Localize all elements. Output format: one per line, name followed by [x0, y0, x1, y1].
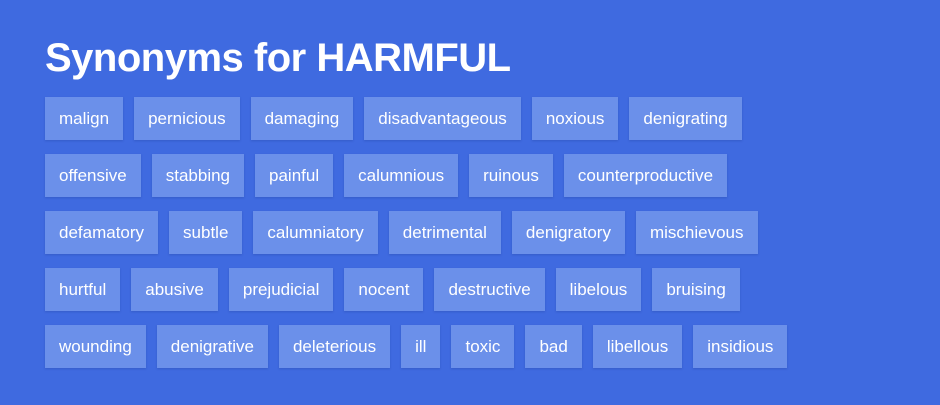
synonym-tag[interactable]: detrimental	[389, 211, 501, 254]
synonym-tag[interactable]: libelous	[556, 268, 642, 311]
synonym-tag[interactable]: destructive	[434, 268, 544, 311]
synonym-tag[interactable]: mischievous	[636, 211, 758, 254]
synonym-row: offensivestabbingpainfulcalumniousruinou…	[45, 154, 905, 197]
synonym-tag[interactable]: defamatory	[45, 211, 158, 254]
synonym-tag-list: malignperniciousdamagingdisadvantageousn…	[45, 97, 905, 368]
synonym-row: woundingdenigrativedeleteriousilltoxicba…	[45, 325, 905, 368]
synonym-tag[interactable]: painful	[255, 154, 333, 197]
synonym-tag[interactable]: toxic	[451, 325, 514, 368]
synonym-row: hurtfulabusiveprejudicialnocentdestructi…	[45, 268, 905, 311]
synonym-tag[interactable]: denigrative	[157, 325, 268, 368]
synonym-tag[interactable]: disadvantageous	[364, 97, 521, 140]
synonym-tag[interactable]: damaging	[251, 97, 354, 140]
synonym-tag[interactable]: noxious	[532, 97, 619, 140]
synonym-tag[interactable]: prejudicial	[229, 268, 334, 311]
synonym-tag[interactable]: insidious	[693, 325, 787, 368]
synonym-tag[interactable]: deleterious	[279, 325, 390, 368]
synonym-tag[interactable]: stabbing	[152, 154, 244, 197]
synonym-tag[interactable]: denigratory	[512, 211, 625, 254]
synonym-tag[interactable]: abusive	[131, 268, 218, 311]
synonym-tag[interactable]: wounding	[45, 325, 146, 368]
synonym-tag[interactable]: hurtful	[45, 268, 120, 311]
synonym-tag[interactable]: ruinous	[469, 154, 553, 197]
page-title: Synonyms for HARMFUL	[45, 33, 511, 83]
synonym-tag[interactable]: malign	[45, 97, 123, 140]
synonym-tag[interactable]: calumnious	[344, 154, 458, 197]
synonym-tag[interactable]: calumniatory	[253, 211, 377, 254]
synonym-row: malignperniciousdamagingdisadvantageousn…	[45, 97, 905, 140]
synonym-tag[interactable]: bad	[525, 325, 581, 368]
synonym-tag[interactable]: ill	[401, 325, 440, 368]
synonym-tag[interactable]: denigrating	[629, 97, 741, 140]
synonym-tag[interactable]: counterproductive	[564, 154, 727, 197]
synonym-tag[interactable]: subtle	[169, 211, 242, 254]
synonym-row: defamatorysubtlecalumniatorydetrimentald…	[45, 211, 905, 254]
synonym-tag[interactable]: offensive	[45, 154, 141, 197]
synonym-tag[interactable]: bruising	[652, 268, 740, 311]
synonym-tag[interactable]: libellous	[593, 325, 682, 368]
synonym-tag[interactable]: pernicious	[134, 97, 240, 140]
synonym-tag[interactable]: nocent	[344, 268, 423, 311]
synonyms-page: Synonyms for HARMFUL malignperniciousdam…	[0, 0, 940, 405]
